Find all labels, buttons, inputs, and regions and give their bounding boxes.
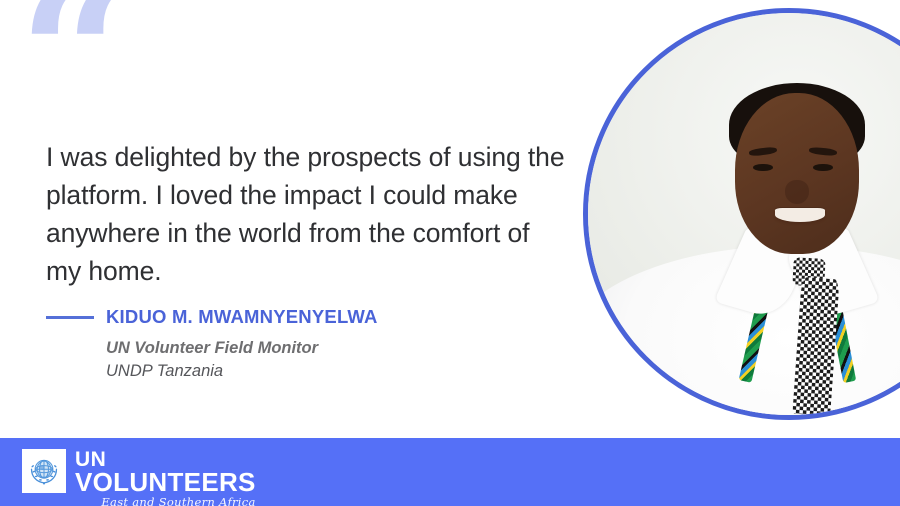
attribution-role: UN Volunteer Field Monitor <box>106 337 566 360</box>
attribution-name: KIDUO M. MWAMNYENYELWA <box>106 306 378 328</box>
testimonial-card: “ I was delighted by the prospects of us… <box>0 0 900 506</box>
footer-bar: UN VOLUNTEERS East and Southern Africa <box>0 438 900 506</box>
quote-text: I was delighted by the prospects of usin… <box>46 138 566 290</box>
attribution: KIDUO M. MWAMNYENYELWA UN Volunteer Fiel… <box>46 306 566 383</box>
quote-mark-icon: “ <box>18 0 127 156</box>
un-volunteers-logo: UN VOLUNTEERS East and Southern Africa <box>22 449 256 506</box>
region-label: East and Southern Africa <box>75 497 256 506</box>
un-emblem-icon <box>22 449 66 493</box>
accent-rule <box>46 316 94 319</box>
nose <box>785 180 809 204</box>
attribution-organization: UNDP Tanzania <box>106 360 566 383</box>
portrait-avatar <box>583 8 900 420</box>
portrait-photo <box>588 13 900 415</box>
attribution-name-row: KIDUO M. MWAMNYENYELWA <box>46 306 566 328</box>
face <box>735 93 860 254</box>
wordmark-line-volunteers: VOLUNTEERS <box>75 470 256 495</box>
un-volunteers-wordmark: UN VOLUNTEERS East and Southern Africa <box>75 449 256 506</box>
